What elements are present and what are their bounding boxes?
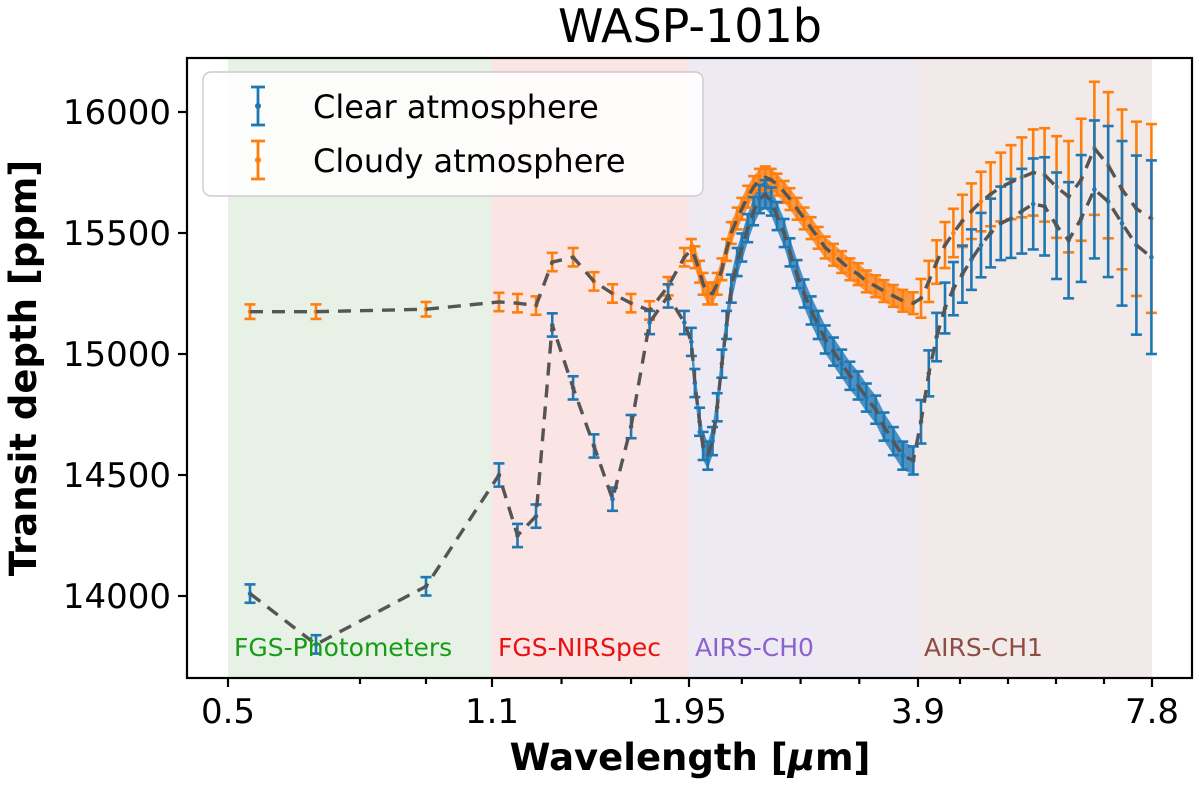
data-point <box>848 267 853 272</box>
band-airs-ch1 <box>918 59 1152 678</box>
data-point <box>689 340 694 345</box>
x-tick-label: 1.95 <box>651 692 727 732</box>
data-point <box>979 243 984 248</box>
y-axis-label: Transit depth [ppm] <box>2 160 45 576</box>
data-point <box>705 291 710 296</box>
y-tick-label: 16000 <box>63 93 171 133</box>
x-tick-label: 1.1 <box>465 692 519 732</box>
data-point <box>1092 187 1097 192</box>
band-label-fgs-photometers: FGS-Photometers <box>234 633 452 662</box>
transmission-spectrum-chart: WASP-101b FGS-PhotometersFGS-NIRSpecAIRS… <box>0 0 1200 785</box>
data-point <box>682 320 687 325</box>
data-point <box>831 252 836 257</box>
data-point <box>647 320 652 325</box>
x-tick-label: 0.5 <box>201 692 255 732</box>
band-airs-ch0 <box>689 59 918 678</box>
chart-title: WASP-101b <box>558 0 822 53</box>
figure-container: WASP-101b FGS-PhotometersFGS-NIRSpecAIRS… <box>0 0 1200 785</box>
y-tick-label: 15500 <box>63 214 171 254</box>
legend-label: Cloudy atmosphere <box>313 142 626 180</box>
x-tick-label: 7.8 <box>1125 692 1179 732</box>
x-axis-label: Wavelength [μm] <box>510 736 871 779</box>
data-point <box>610 497 615 502</box>
data-point <box>689 248 694 253</box>
y-tick-label: 14500 <box>63 456 171 496</box>
y-tick-label: 15000 <box>63 335 171 375</box>
legend-marker-point <box>255 157 261 163</box>
x-tick-label: 3.9 <box>891 692 945 732</box>
data-point <box>1031 202 1036 207</box>
legend-marker-point <box>255 103 261 109</box>
data-point <box>951 231 956 236</box>
band-label-airs-ch1: AIRS-CH1 <box>924 633 1043 662</box>
data-point <box>900 453 905 458</box>
data-point <box>979 199 984 204</box>
legend-label: Clear atmosphere <box>313 88 599 126</box>
data-point <box>864 279 869 284</box>
band-label-fgs-nirspec: FGS-NIRSpec <box>498 633 661 662</box>
data-point <box>1149 255 1154 260</box>
y-tick-label: 14000 <box>63 577 171 617</box>
chart-legend[interactable]: Clear atmosphereCloudy atmosphere <box>203 72 703 196</box>
band-label-airs-ch0: AIRS-CH0 <box>695 633 814 662</box>
data-point <box>1120 221 1125 226</box>
data-point <box>839 361 844 366</box>
